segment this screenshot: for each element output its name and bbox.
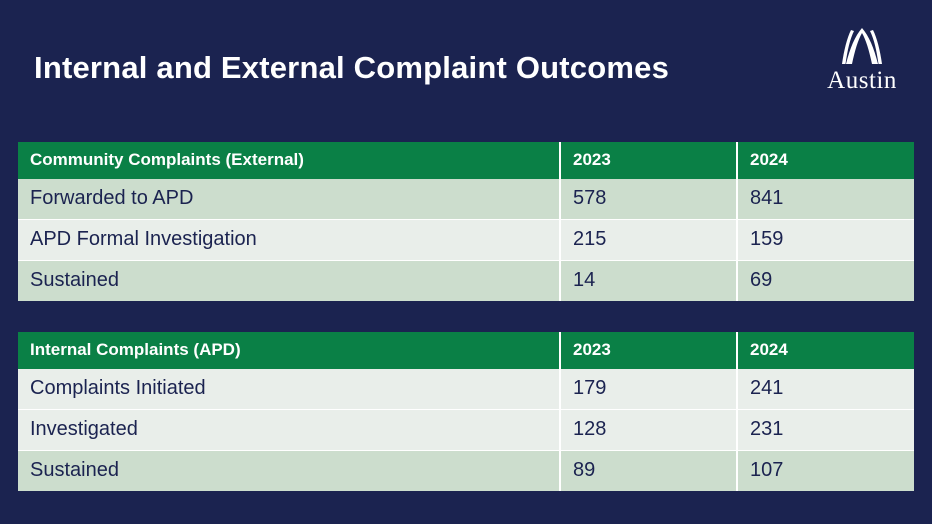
table-row: Complaints Initiated 179 241 (18, 369, 914, 410)
table-row: Forwarded to APD 578 841 (18, 179, 914, 220)
column-header-2024: 2024 (737, 142, 914, 179)
cell-category: Sustained (18, 451, 560, 492)
slide: Internal and External Complaint Outcomes… (0, 0, 932, 524)
column-header-category: Community Complaints (External) (18, 142, 560, 179)
table-row: APD Formal Investigation 215 159 (18, 220, 914, 261)
column-header-category: Internal Complaints (APD) (18, 332, 560, 369)
column-header-2023: 2023 (560, 142, 737, 179)
table-community-complaints-external: Community Complaints (External) 2023 202… (18, 142, 914, 301)
cell-category: Investigated (18, 410, 560, 451)
table-header-row: Community Complaints (External) 2023 202… (18, 142, 914, 179)
cell-2024: 231 (737, 410, 914, 451)
cell-2024: 107 (737, 451, 914, 492)
cell-2024: 159 (737, 220, 914, 261)
table-row: Sustained 89 107 (18, 451, 914, 492)
column-header-2023: 2023 (560, 332, 737, 369)
column-header-2024: 2024 (737, 332, 914, 369)
table-row: Sustained 14 69 (18, 261, 914, 302)
cell-category: Complaints Initiated (18, 369, 560, 410)
cell-2023: 128 (560, 410, 737, 451)
cell-2023: 179 (560, 369, 737, 410)
cell-2023: 215 (560, 220, 737, 261)
cell-2023: 89 (560, 451, 737, 492)
cell-2024: 69 (737, 261, 914, 302)
cell-2023: 578 (560, 179, 737, 220)
austin-logo: Austin (814, 26, 910, 100)
cell-2024: 841 (737, 179, 914, 220)
logo-wordmark: Austin (827, 68, 897, 94)
table-internal-complaints-apd: Internal Complaints (APD) 2023 2024 Comp… (18, 332, 914, 491)
cell-category: Sustained (18, 261, 560, 302)
cell-2023: 14 (560, 261, 737, 302)
cell-category: APD Formal Investigation (18, 220, 560, 261)
cell-2024: 241 (737, 369, 914, 410)
table-header-row: Internal Complaints (APD) 2023 2024 (18, 332, 914, 369)
austin-skyline-a-icon (831, 26, 893, 68)
page-title: Internal and External Complaint Outcomes (34, 50, 669, 86)
cell-category: Forwarded to APD (18, 179, 560, 220)
table-row: Investigated 128 231 (18, 410, 914, 451)
